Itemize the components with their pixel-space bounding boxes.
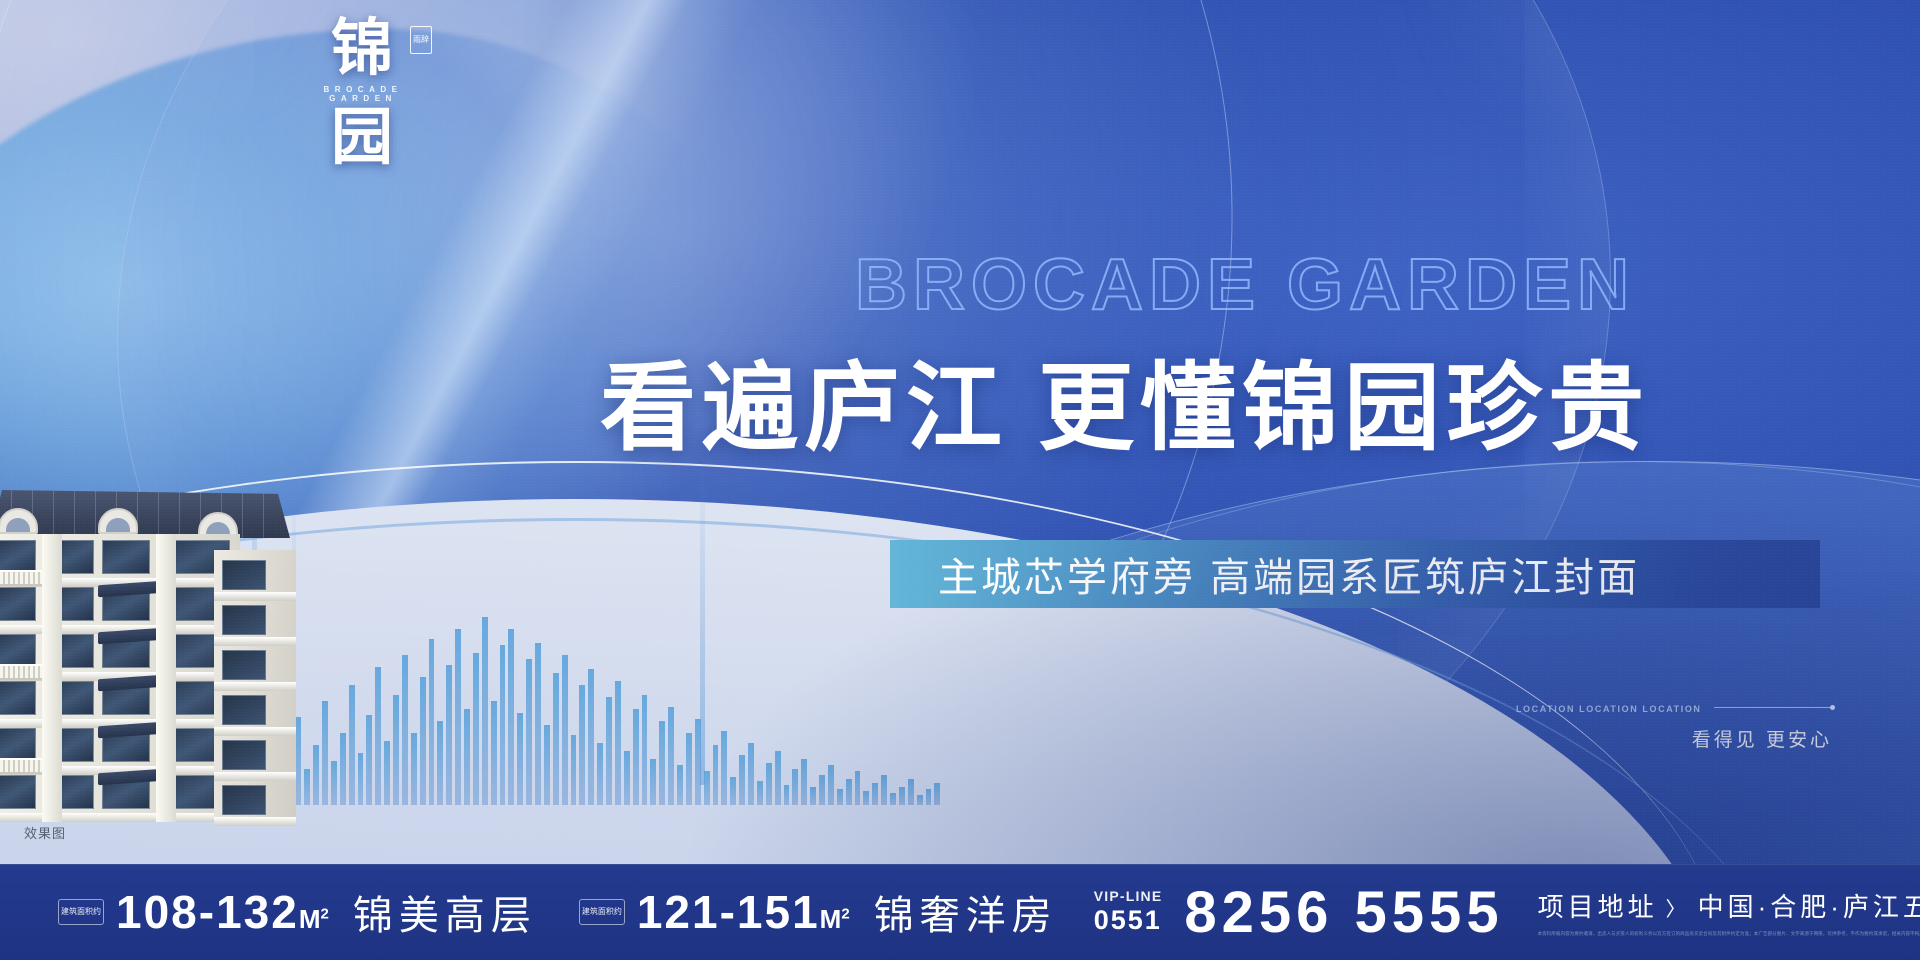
legal-disclaimer: 本资料所载内容为要约邀请，出卖人与买受人的权利义务以双方签订的商品房买卖合同及其… [1538, 931, 1920, 937]
unit-type-label-a: 锦美高层 [353, 883, 537, 941]
vip-line-block: VIP-LINE 0551 [1094, 889, 1163, 935]
unit-type-b: 建筑面积约 121-151M2 锦奢洋房 [579, 883, 1058, 941]
area-badge-a: 建筑面积约 [58, 899, 104, 925]
bottom-bar-divider [0, 864, 1920, 865]
unit-type-a: 建筑面积约 108-132M2 锦美高层 [58, 883, 537, 941]
address-label: 项目地址 [1538, 892, 1658, 922]
vip-line-prefix: 0551 [1094, 905, 1163, 935]
background-grain [0, 0, 1920, 960]
poster-canvas: 锦 BROCADE GARDEN 园 雨辞 BROCADE GARDEN 看遍庐… [0, 0, 1920, 960]
vip-line-label: VIP-LINE [1094, 889, 1163, 905]
area-value-a: 108-132M2 [116, 885, 329, 939]
area-value-b: 121-151M2 [637, 885, 850, 939]
unit-type-label-b: 锦奢洋房 [874, 883, 1058, 941]
project-address: 项目地址〉中国·合肥·庐江五里南路和临湖路交口 [1538, 887, 1920, 924]
area-badge-b: 建筑面积约 [579, 899, 625, 925]
phone-number[interactable]: 8256 5555 [1184, 879, 1503, 946]
bottom-info-bar: 建筑面积约 108-132M2 锦美高层 建筑面积约 121-151M2 锦奢洋… [0, 864, 1920, 960]
chevron-right-icon: 〉 [1666, 899, 1690, 921]
address-value: 中国·合肥·庐江五里南路和临湖路交口 [1698, 892, 1920, 922]
project-address-block: 项目地址〉中国·合肥·庐江五里南路和临湖路交口 本资料所载内容为要约邀请，出卖人… [1538, 887, 1920, 937]
